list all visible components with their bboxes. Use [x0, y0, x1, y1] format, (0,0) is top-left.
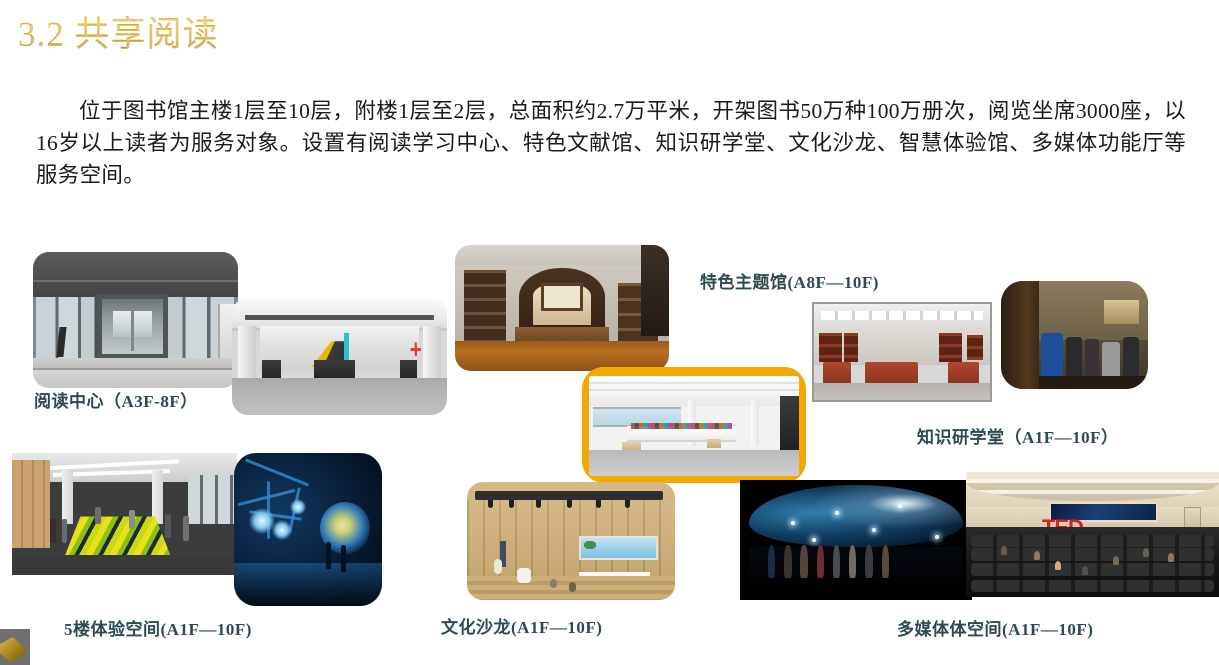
slide-canvas: 3.2 共享阅读 位于图书馆主楼1层至10层，附楼1层至2层，总面积约2.7万平… — [0, 0, 1219, 665]
photo-interactive-yellow-floor — [12, 453, 237, 575]
photo-library-atrium — [232, 298, 447, 415]
photo-planetarium-dome — [740, 480, 972, 600]
corner-decoration — [0, 629, 30, 665]
photo-blue-immersive-exhibit — [234, 453, 382, 606]
photo-culture-salon-hall — [467, 482, 675, 600]
photo-open-shelf-library — [582, 367, 806, 483]
caption-themed-hall: 特色主题馆(A8F—10F) — [700, 268, 879, 293]
photo-reading-center-entrance — [33, 252, 238, 388]
caption-study-hall: 知识研学堂（A1F—10F） — [917, 423, 1119, 448]
photo-ted-auditorium: TED — [966, 472, 1219, 597]
photo-red-furniture-library — [812, 302, 992, 402]
photo-gallery-visitors — [1001, 281, 1148, 389]
body-paragraph: 位于图书馆主楼1层至10层，附楼1层至2层，总面积约2.7万平米，开架图书50万… — [36, 95, 1186, 191]
caption-culture-salon: 文化沙龙(A1F—10F) — [441, 613, 602, 638]
caption-experience-space: 5楼体验空间(A1F—10F) — [64, 615, 252, 640]
caption-multimedia-space: 多媒体体空间(A1F—10F) — [897, 615, 1093, 640]
caption-reading-center: 阅读中心（A3F-8F） — [34, 387, 198, 412]
photo-classical-chinese-room — [455, 245, 669, 371]
page-title: 3.2 共享阅读 — [18, 6, 219, 57]
